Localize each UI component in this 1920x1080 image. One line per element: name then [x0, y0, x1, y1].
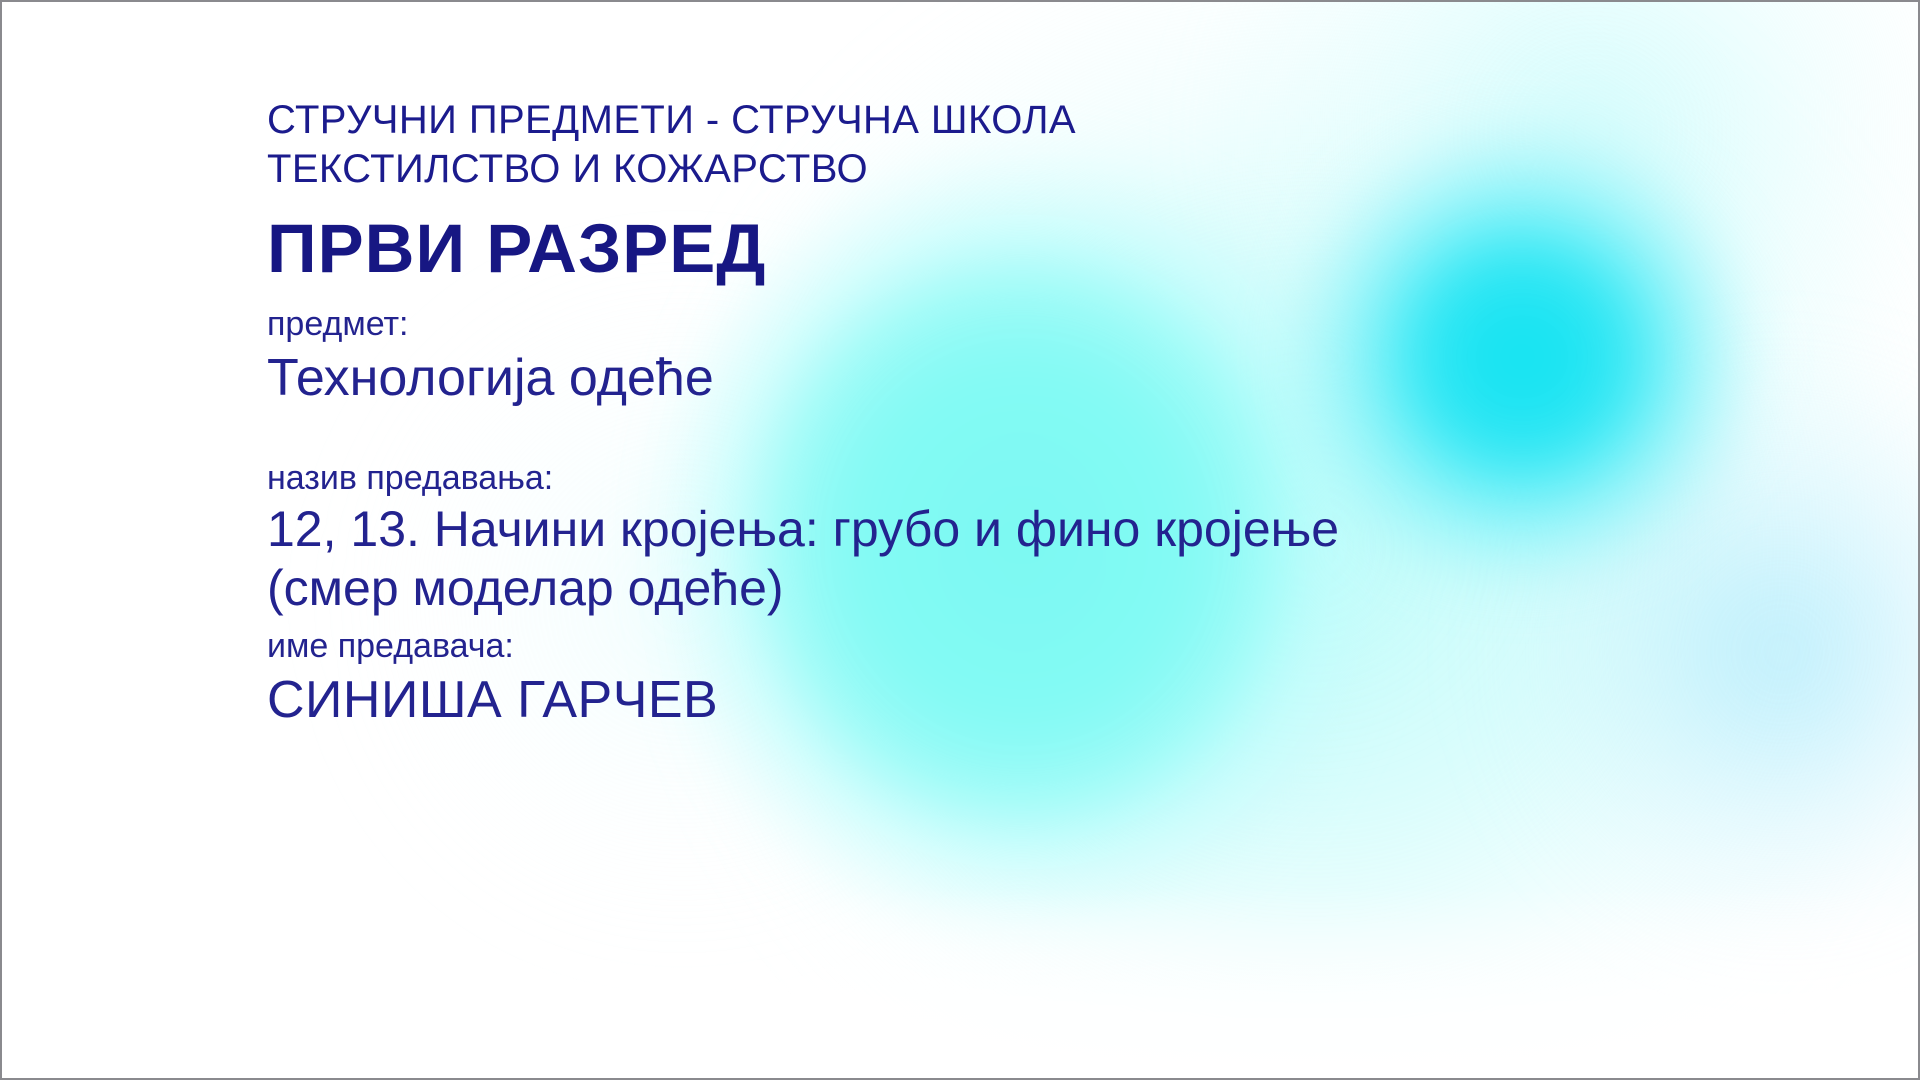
school-heading-line-2: ТЕКСТИЛСТВО И КОЖАРСТВО [267, 145, 1607, 194]
school-heading-line-1: СТРУЧНИ ПРЕДМЕТИ - СТРУЧНА ШКОЛА [267, 96, 1607, 145]
subject-block: предмет: Технологија одеће [267, 302, 1607, 410]
lecturer-label: име предавача: [267, 624, 1607, 668]
lecture-title-slide: СТРУЧНИ ПРЕДМЕТИ - СТРУЧНА ШКОЛА ТЕКСТИЛ… [0, 0, 1920, 1080]
lecturer-value: СИНИША ГАРЧЕВ [267, 668, 1607, 732]
lecturer-block: име предавача: СИНИША ГАРЧЕВ [267, 624, 1607, 732]
slide-content: СТРУЧНИ ПРЕДМЕТИ - СТРУЧНА ШКОЛА ТЕКСТИЛ… [267, 96, 1607, 732]
lecture-value-line-1: 12, 13. Начини кројења: грубо и фино кро… [267, 500, 1607, 559]
subject-value: Технологија одеће [267, 346, 1607, 410]
school-heading: СТРУЧНИ ПРЕДМЕТИ - СТРУЧНА ШКОЛА ТЕКСТИЛ… [267, 96, 1607, 194]
lecture-value-line-2: (смер моделар одеће) [267, 559, 1607, 618]
grade-title: ПРВИ РАЗРЕД [267, 210, 1607, 288]
lecture-label: назив предавања: [267, 456, 1607, 500]
subject-label: предмет: [267, 302, 1607, 346]
background-bottom-fade [2, 888, 1918, 1078]
lecture-block: назив предавања: 12, 13. Начини кројења:… [267, 456, 1607, 618]
